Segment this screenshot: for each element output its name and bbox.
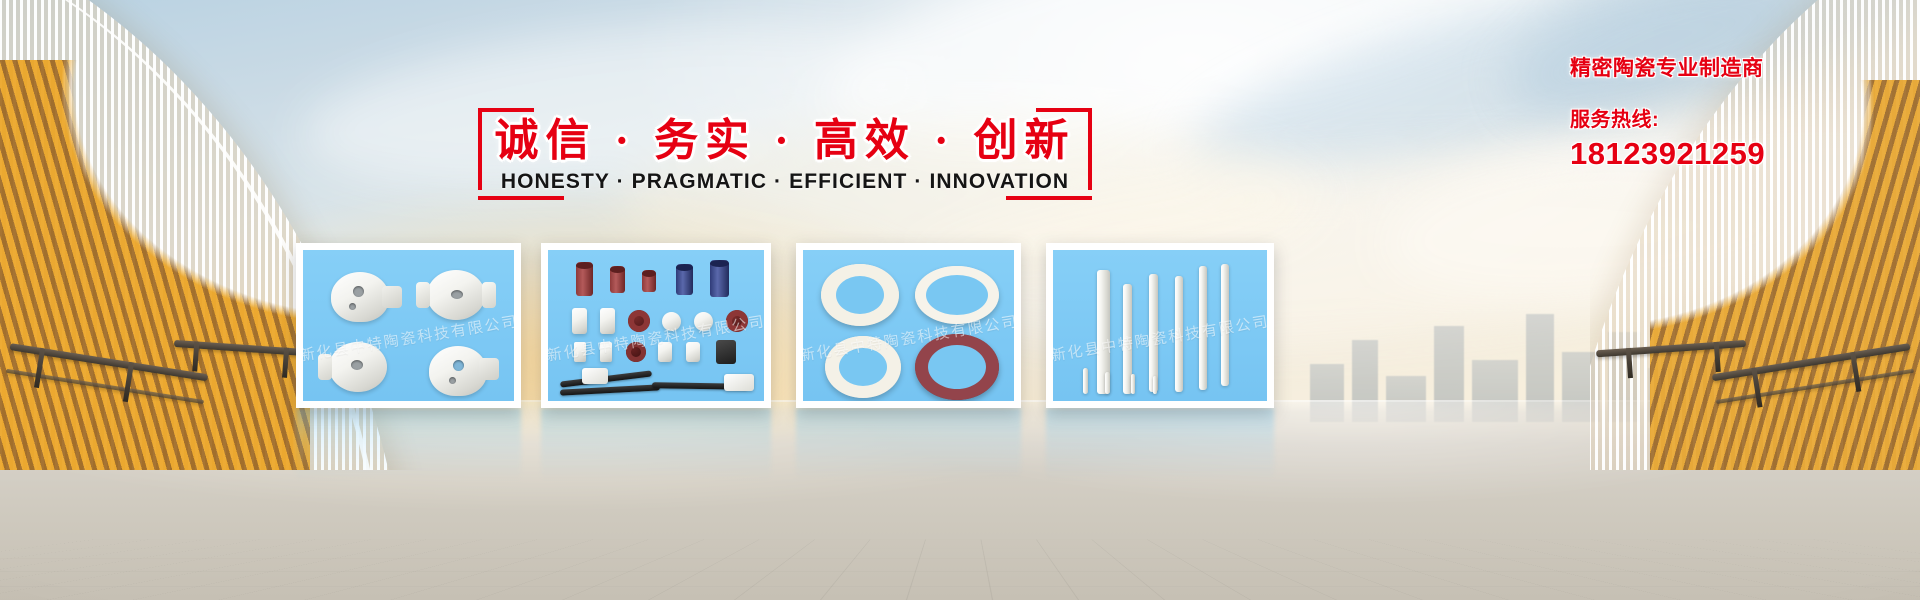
ceramic-chip: [574, 342, 586, 362]
slogan-chinese: 诚信 · 务实 · 高效 · 创新: [478, 104, 1092, 168]
slogan-block: 诚信 · 务实 · 高效 · 创新 HONESTY · PRAGMATIC · …: [478, 108, 1092, 194]
ceramic-ring-large: [915, 266, 999, 324]
bracket-right-bottom: [1006, 196, 1092, 200]
ceramic-chip: [600, 342, 612, 362]
ceramic-rod: [1175, 276, 1183, 392]
ceramic-chip: [658, 342, 672, 362]
ceramic-rod-small: [1153, 376, 1157, 394]
slogan-english: HONESTY · PRAGMATIC · EFFICIENT · INNOVA…: [478, 170, 1092, 194]
holder-hole: [453, 360, 464, 371]
product-panel-rods[interactable]: 新化县中特陶瓷科技有限公司: [1046, 243, 1274, 408]
cable-connector: [582, 368, 608, 384]
panel-reflection: [296, 408, 521, 480]
ceramic-chip: [600, 308, 615, 334]
ceramic-ring: [626, 342, 646, 362]
ceramic-rod: [1221, 264, 1229, 386]
ceramic-chip: [686, 342, 700, 362]
ceramic-rod: [1149, 274, 1158, 392]
lamp-holder-part: [427, 270, 485, 320]
product-panel-rings[interactable]: 新化县中特陶瓷科技有限公司: [796, 243, 1021, 408]
ceramic-rod-small: [1083, 368, 1088, 394]
lamp-holder-part: [329, 342, 387, 392]
ceramic-ring-large: [825, 336, 901, 398]
ceramic-rod: [1199, 266, 1207, 390]
holder-hole: [351, 360, 363, 370]
tube-lip: [610, 266, 625, 273]
holder-hole: [451, 290, 463, 299]
panel-reflection: [541, 408, 771, 480]
ceramic-tube: [710, 260, 729, 297]
ceramic-tube: [642, 270, 656, 292]
product-panel-tubes-cables[interactable]: 新化县中特陶瓷科技有限公司: [541, 243, 771, 408]
tube-lip: [710, 260, 729, 267]
metal-fitting: [716, 340, 736, 364]
lamp-holder-part: [331, 272, 389, 322]
company-tagline: 精密陶瓷专业制造商: [1570, 52, 1765, 82]
ceramic-disc: [662, 312, 681, 331]
product-panel-lamp-holders[interactable]: 新化县中特陶瓷科技有限公司: [296, 243, 521, 408]
holder-ear: [416, 282, 430, 308]
ceramic-rod-small: [1105, 372, 1110, 394]
ceramic-disc: [694, 312, 713, 331]
ceramic-ring: [726, 310, 748, 332]
promotional-banner: 诚信 · 务实 · 高效 · 创新 HONESTY · PRAGMATIC · …: [0, 0, 1920, 600]
hotline-number[interactable]: 18123921259: [1570, 136, 1765, 172]
holder-stem: [479, 358, 499, 380]
bracket-left-bottom: [478, 196, 564, 200]
holder-hole: [349, 303, 356, 310]
ceramic-ring-large: [821, 264, 899, 326]
holder-hole: [449, 377, 456, 384]
ceramic-tube: [610, 266, 625, 293]
product-panel-row: 新化县中特陶瓷科技有限公司: [0, 243, 1920, 408]
holder-stem: [382, 286, 402, 308]
holder-ear: [318, 354, 332, 380]
ceramic-tube: [676, 264, 693, 295]
panel-reflection: [1046, 408, 1274, 480]
ceramic-ring: [628, 310, 650, 332]
tube-lip: [576, 262, 593, 269]
tube-lip: [642, 270, 656, 277]
holder-ear: [482, 282, 496, 308]
lamp-holder-part: [429, 346, 487, 396]
ceramic-rod-small: [1131, 374, 1135, 394]
hotline-label: 服务热线:: [1570, 103, 1765, 132]
panel-reflection: [796, 408, 1021, 480]
ceramic-chip: [572, 308, 587, 334]
contact-block: 精密陶瓷专业制造商 服务热线: 18123921259: [1570, 52, 1765, 172]
ceramic-ring-red: [915, 334, 999, 400]
holder-hole: [353, 286, 364, 297]
cable-connector: [724, 374, 754, 391]
tube-lip: [676, 264, 693, 271]
ceramic-tube: [576, 262, 593, 296]
